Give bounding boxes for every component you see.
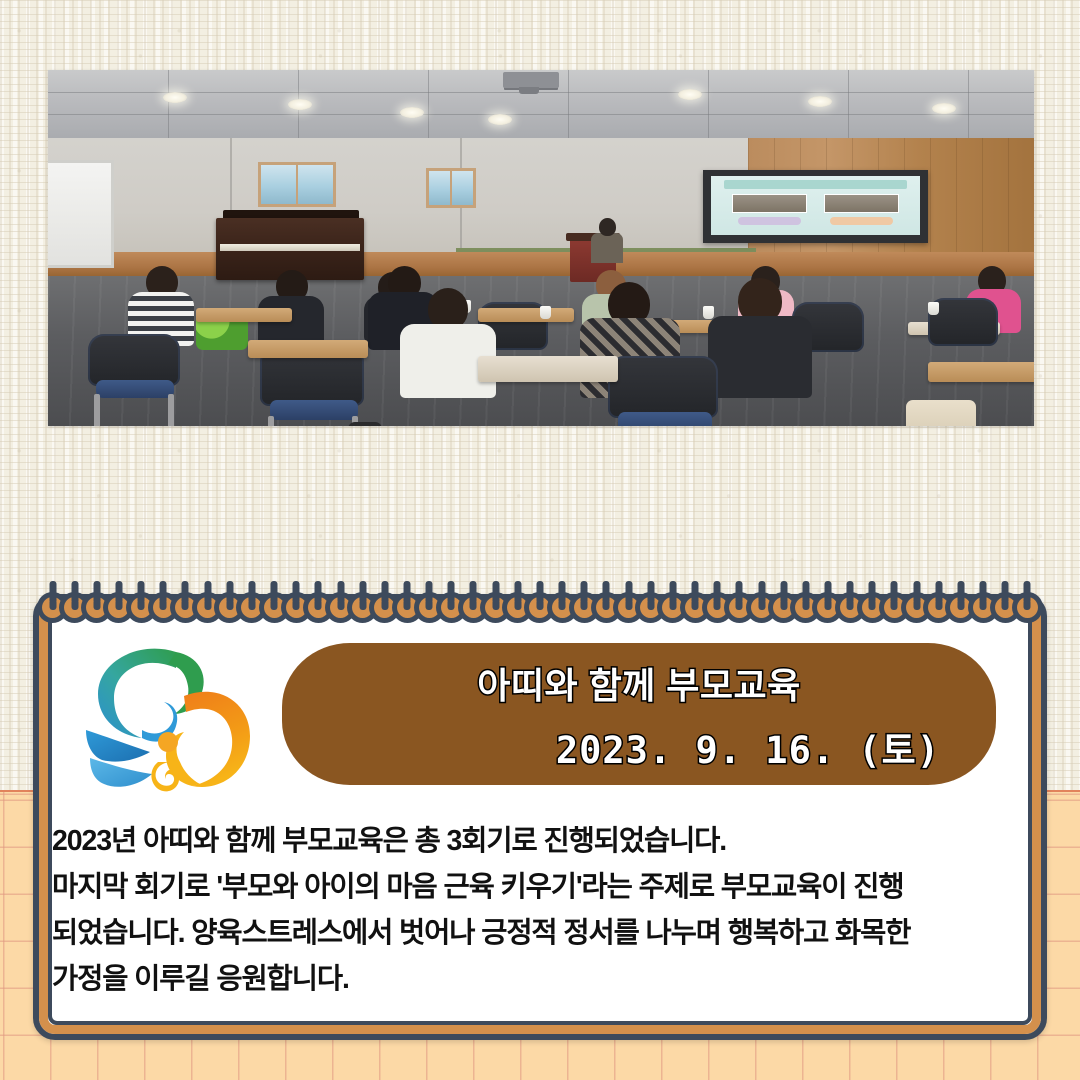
ceiling-light <box>932 103 956 114</box>
whiteboard <box>48 160 114 268</box>
spiral-ring <box>352 597 373 618</box>
spiral-ring <box>86 597 107 618</box>
spiral-ring <box>795 597 816 618</box>
event-photo <box>48 70 1034 426</box>
spiral-ring <box>131 597 152 618</box>
chair-seat <box>618 412 712 426</box>
desk <box>196 308 292 322</box>
spiral-ring <box>862 597 883 618</box>
chair <box>88 334 180 386</box>
spiral-ring <box>950 597 971 618</box>
spiral-ring <box>928 597 949 618</box>
floor <box>48 276 1034 426</box>
spiral-ring <box>64 597 85 618</box>
ceiling-light <box>808 96 832 107</box>
spiral-ring <box>219 597 240 618</box>
logo-green-arc <box>98 649 176 738</box>
spiral-ring <box>552 597 573 618</box>
chair <box>608 356 718 418</box>
spiral-ring <box>751 597 772 618</box>
poster-canvas: 아띠와 함께 부모교육 2023. 9. 16. (토) 2023년 아띠와 함… <box>0 0 1080 1080</box>
spiral-ring <box>153 597 174 618</box>
spiral-ring <box>374 597 395 618</box>
spiral-ring <box>175 597 196 618</box>
spiral-ring <box>574 597 595 618</box>
spiral-ring <box>840 597 861 618</box>
spiral-ring <box>108 597 129 618</box>
spiral-ring <box>662 597 683 618</box>
title-banner: 아띠와 함께 부모교육 2023. 9. 16. (토) <box>282 643 996 785</box>
spiral-ring <box>463 597 484 618</box>
spiral-ring <box>973 597 994 618</box>
banner-date: 2023. 9. 16. (토) <box>316 720 962 774</box>
wall-dado <box>48 252 1034 278</box>
projection-screen <box>703 170 928 243</box>
spiral-ring <box>42 597 63 618</box>
spiral-ring <box>1017 597 1038 618</box>
projector-icon <box>503 72 559 88</box>
chair-seat <box>270 400 358 420</box>
spiral-ring <box>618 597 639 618</box>
cup <box>703 306 714 319</box>
cup <box>928 302 939 315</box>
spiral-ring <box>507 597 528 618</box>
ceiling-light <box>163 92 187 103</box>
ceiling-light <box>400 107 424 118</box>
cup <box>540 306 551 319</box>
spiral-ring <box>397 597 418 618</box>
ceiling-light <box>488 114 512 125</box>
body-text: 2023년 아띠와 함께 부모교육은 총 3회기로 진행되었습니다. 마지막 회… <box>52 818 1027 1002</box>
shoe <box>348 422 382 426</box>
desk <box>248 340 368 358</box>
atti-family-center-logo <box>80 634 270 809</box>
spiral-ring <box>264 597 285 618</box>
spiral-ring <box>197 597 218 618</box>
logo-wave-lower <box>90 758 152 787</box>
spiral-binding <box>42 586 1038 626</box>
spiral-ring <box>241 597 262 618</box>
logo-wave-upper <box>86 730 150 762</box>
spiral-ring <box>419 597 440 618</box>
spiral-ring <box>529 597 550 618</box>
spiral-ring <box>773 597 794 618</box>
logo-dot <box>158 732 178 752</box>
spiral-ring <box>817 597 838 618</box>
spiral-ring <box>906 597 927 618</box>
logo-orange-arc <box>184 692 250 787</box>
ceiling-light <box>678 89 702 100</box>
spiral-ring <box>707 597 728 618</box>
window <box>258 162 336 207</box>
spiral-ring <box>308 597 329 618</box>
desk <box>478 308 574 322</box>
spiral-ring <box>995 597 1016 618</box>
attendee-body <box>708 316 812 398</box>
banner-title: 아띠와 함께 부모교육 <box>316 663 962 708</box>
speaker-head <box>599 218 616 236</box>
tote-bag <box>906 400 976 426</box>
spiral-ring <box>485 597 506 618</box>
spiral-ring <box>729 597 750 618</box>
spiral-ring <box>685 597 706 618</box>
speaker-body <box>591 233 623 263</box>
event-photo-scene <box>48 70 1034 426</box>
spiral-ring <box>441 597 462 618</box>
desk <box>478 356 618 382</box>
desk <box>928 362 1034 382</box>
spiral-ring <box>640 597 661 618</box>
ceiling-light <box>288 99 312 110</box>
window <box>426 168 476 208</box>
spiral-ring <box>596 597 617 618</box>
spiral-ring <box>286 597 307 618</box>
spiral-ring <box>884 597 905 618</box>
chair-seat <box>96 380 174 398</box>
projection-slide <box>711 176 920 235</box>
spiral-ring <box>330 597 351 618</box>
